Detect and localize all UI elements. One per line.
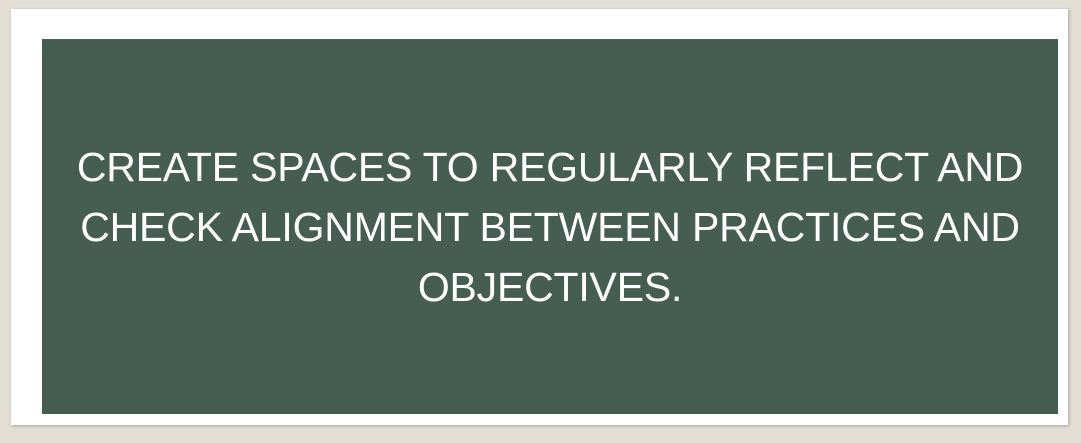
headline-line-3: OBJECTIVES. [68,257,1032,317]
slide-frame: CREATE SPACES TO REGULARLY REFLECT AND C… [11,9,1068,425]
headline-text-block: CREATE SPACES TO REGULARLY REFLECT AND C… [42,137,1058,317]
slide-content-panel: CREATE SPACES TO REGULARLY REFLECT AND C… [42,39,1058,414]
headline-line-1: CREATE SPACES TO REGULARLY REFLECT AND [68,137,1032,197]
headline-line-2: CHECK ALIGNMENT BETWEEN PRACTICES AND [68,197,1032,257]
slide-canvas: CREATE SPACES TO REGULARLY REFLECT AND C… [0,0,1081,443]
